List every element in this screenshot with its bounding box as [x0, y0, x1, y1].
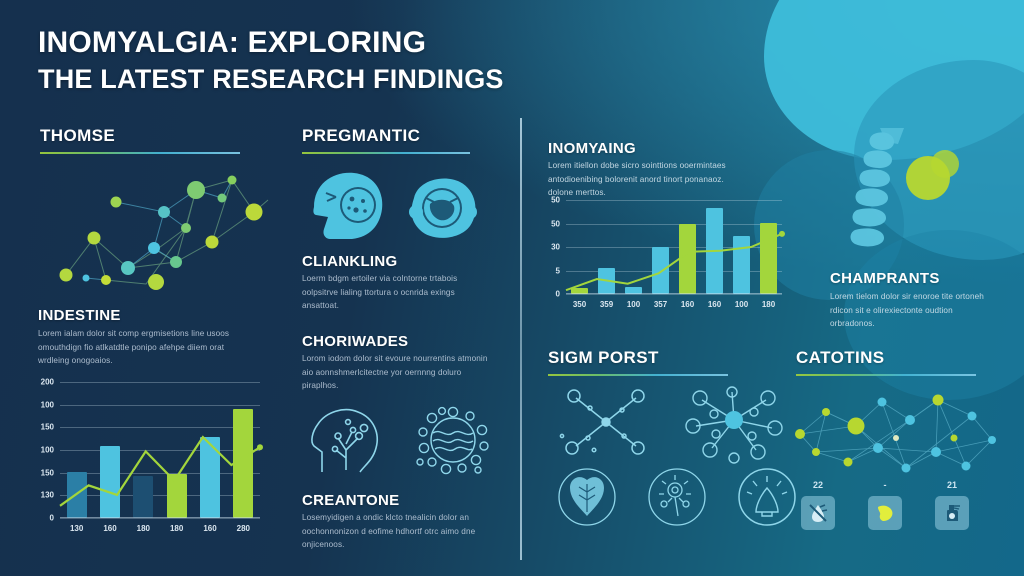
chart-ytick-label: 130	[41, 491, 54, 500]
flower-wand-icon	[642, 462, 712, 532]
molecule-cross-icon	[554, 388, 659, 458]
section-heading-clianklng: CLIANKLING	[302, 253, 398, 270]
chart-ytick-label: 150	[41, 423, 54, 432]
network-graph-illustration	[786, 382, 1014, 490]
tile-label-1: -	[884, 480, 887, 490]
chart-xtick-label: 350	[573, 300, 586, 309]
body-text-creantone: Losemyidigen a ondic klcto tnealicin dol…	[302, 511, 492, 552]
column-divider	[520, 118, 522, 560]
spray-bottle-icon	[941, 502, 963, 524]
tile-spray-bottle[interactable]	[935, 496, 969, 530]
chart-ytick-label: 0	[556, 290, 560, 299]
chart-inomyaing-axis	[566, 293, 782, 294]
chart-indestine-axis	[60, 517, 260, 518]
chart-xtick-label: 359	[600, 300, 613, 309]
rule-catotins	[796, 374, 976, 376]
chart-xtick-label: 100	[735, 300, 748, 309]
chart-ytick-label: 50	[551, 196, 560, 205]
infographic-canvas: INOMYALGIA: EXPLORING THE LATEST RESEARC…	[0, 0, 1024, 576]
section-heading-pregmantic: PREGMANTIC	[302, 126, 420, 146]
chart-xtick-label: 180	[137, 524, 150, 533]
body-text-indestine: Lorem ialam dolor sit comp ergmisetions …	[38, 327, 253, 368]
tile-liver[interactable]	[868, 496, 902, 530]
page-title: INOMYALGIA: EXPLORING THE LATEST RESEARC…	[38, 24, 508, 96]
chart-xtick-label: 357	[654, 300, 667, 309]
chart-xtick-label: 280	[237, 524, 250, 533]
chart-trend-line	[60, 382, 260, 518]
chart-ytick-label: 100	[41, 446, 54, 455]
body-text-clianklng: Loerm bdgm ertoiler via colntorne trtabo…	[302, 272, 492, 313]
leaf-heart-icon	[552, 462, 622, 532]
chart-ytick-label: 0	[50, 514, 54, 523]
tile-water-drop-off[interactable]	[801, 496, 835, 530]
liver-icon	[874, 502, 896, 524]
section-heading-sigm-porst: SIGM PORST	[548, 348, 659, 368]
tile-label-0: 22	[813, 480, 823, 490]
head-neuron-icon	[306, 400, 396, 480]
chart-xtick-label: 160	[203, 524, 216, 533]
chart-xtick-label: 160	[103, 524, 116, 533]
spine-illustration	[840, 128, 980, 258]
chart-ytick-label: 50	[551, 219, 560, 228]
chart-ytick-label: 200	[41, 378, 54, 387]
body-text-choriwades: Lorom iodom dolor sit evoure nourrentins…	[302, 352, 497, 393]
rule-pregmantic	[302, 152, 470, 154]
rule-sigm-porst	[548, 374, 728, 376]
molecule-network-icon	[680, 386, 790, 462]
section-heading-thomse: THOMSE	[40, 126, 115, 146]
chart-ytick-label: 30	[551, 243, 560, 252]
section-heading-champrants: CHAMPRANTS	[830, 270, 940, 287]
chart-gridline	[60, 518, 260, 519]
chart-ytick-label: 5	[556, 266, 560, 275]
chart-inomyaing: 50503050350359100357160160100180	[566, 200, 782, 294]
chart-xtick-label: 180	[170, 524, 183, 533]
section-heading-choriwades: CHORIWADES	[302, 333, 408, 350]
cell-membrane-icon	[408, 400, 498, 480]
page-title-line2: THE LATEST RESEARCH FINDINGS	[38, 64, 504, 94]
chart-xtick-label: 130	[70, 524, 83, 533]
section-heading-indestine: INDESTINE	[38, 307, 121, 324]
chart-trend-line	[566, 200, 782, 294]
chart-xtick-label: 160	[708, 300, 721, 309]
chart-xtick-label: 180	[762, 300, 775, 309]
section-heading-catotins: CATOTINS	[796, 348, 885, 368]
chart-xtick-label: 100	[627, 300, 640, 309]
chart-ytick-label: 150	[41, 468, 54, 477]
section-heading-creantone: CREANTONE	[302, 492, 399, 509]
thomse-network-illustration	[36, 150, 286, 290]
tile-label-2: 21	[947, 480, 957, 490]
chart-xtick-label: 160	[681, 300, 694, 309]
section-heading-inomyaing: INOMYAING	[548, 140, 636, 157]
chart-indestine: 2001001501001501300130160180180160280	[60, 382, 260, 518]
page-title-line1: INOMYALGIA: EXPLORING	[38, 26, 426, 59]
chart-gridline	[566, 294, 782, 295]
chart-ytick-label: 100	[41, 400, 54, 409]
body-text-inomyaing: Lorem itiellon dobe sicro sointtions ooe…	[548, 159, 748, 200]
water-drop-off-icon	[807, 502, 829, 524]
cell-with-mask-icon	[396, 168, 491, 248]
body-text-champrants: Lorem tielom dolor sir enoroe tite orton…	[830, 290, 995, 331]
